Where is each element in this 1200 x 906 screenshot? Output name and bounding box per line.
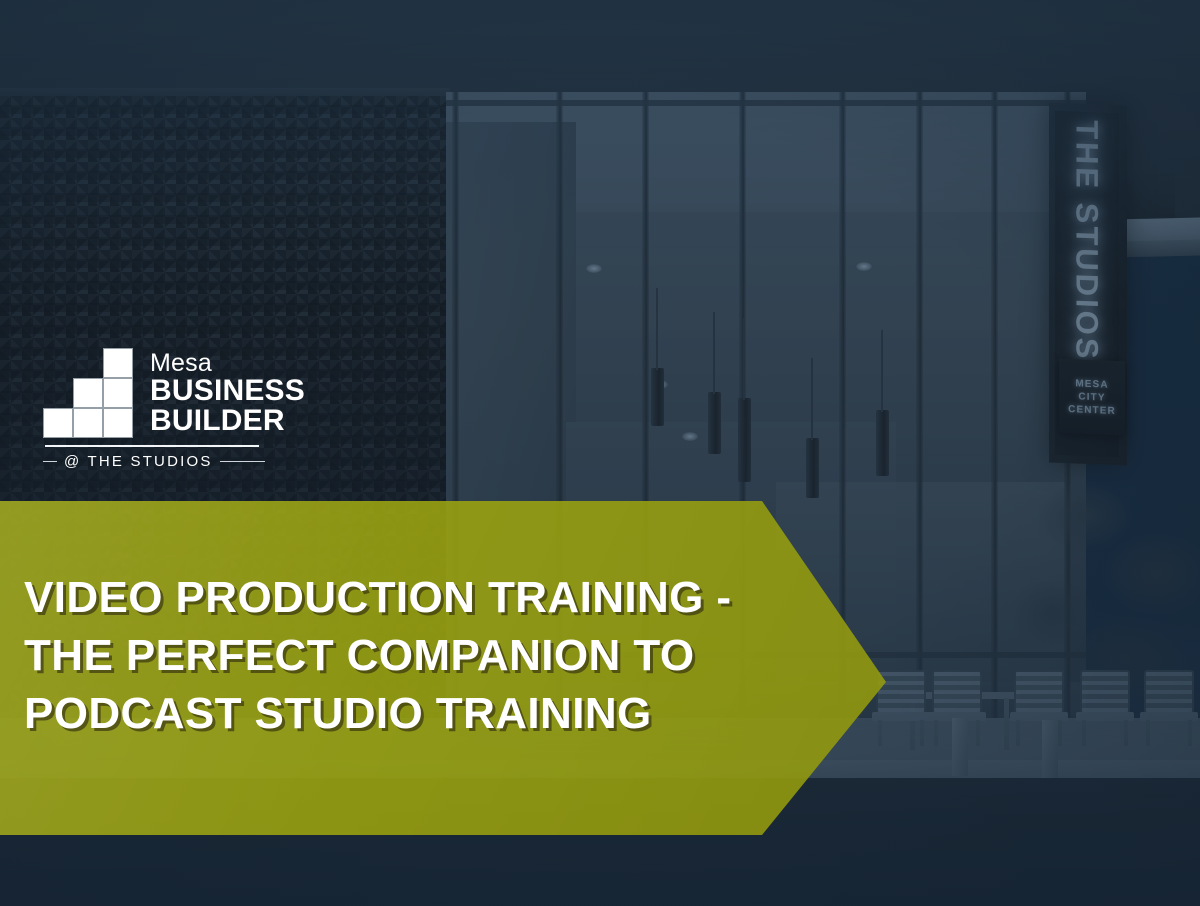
logo-tagline: @ THE STUDIOS <box>64 453 213 470</box>
page-title: VIDEO PRODUCTION TRAINING - THE PERFECT … <box>24 569 784 743</box>
logo-square <box>103 378 133 408</box>
logo-wordmark: Mesa BUSINESS BUILDER <box>150 351 305 438</box>
logo-row: Mesa BUSINESS BUILDER <box>43 348 273 438</box>
logo-line-business: BUSINESS <box>150 376 305 406</box>
poster-canvas: THE STUDIOS MESA CITY CENTER <box>0 0 1200 906</box>
logo-line-builder: BUILDER <box>150 406 305 436</box>
logo-square <box>103 408 133 438</box>
logo-tagline-row: @ THE STUDIOS <box>43 453 265 470</box>
logo-line-mesa: Mesa <box>150 351 305 375</box>
logo-square <box>103 348 133 378</box>
mesa-business-builder-logo: Mesa BUSINESS BUILDER @ THE STUDIOS <box>43 348 273 470</box>
logo-square <box>73 408 103 438</box>
stair-step-bar-chart-icon <box>43 348 139 438</box>
tagline-dash-left <box>43 461 57 462</box>
logo-square <box>73 378 103 408</box>
logo-divider-rule <box>45 445 259 447</box>
tagline-dash-right <box>220 461 265 462</box>
logo-square <box>43 408 73 438</box>
